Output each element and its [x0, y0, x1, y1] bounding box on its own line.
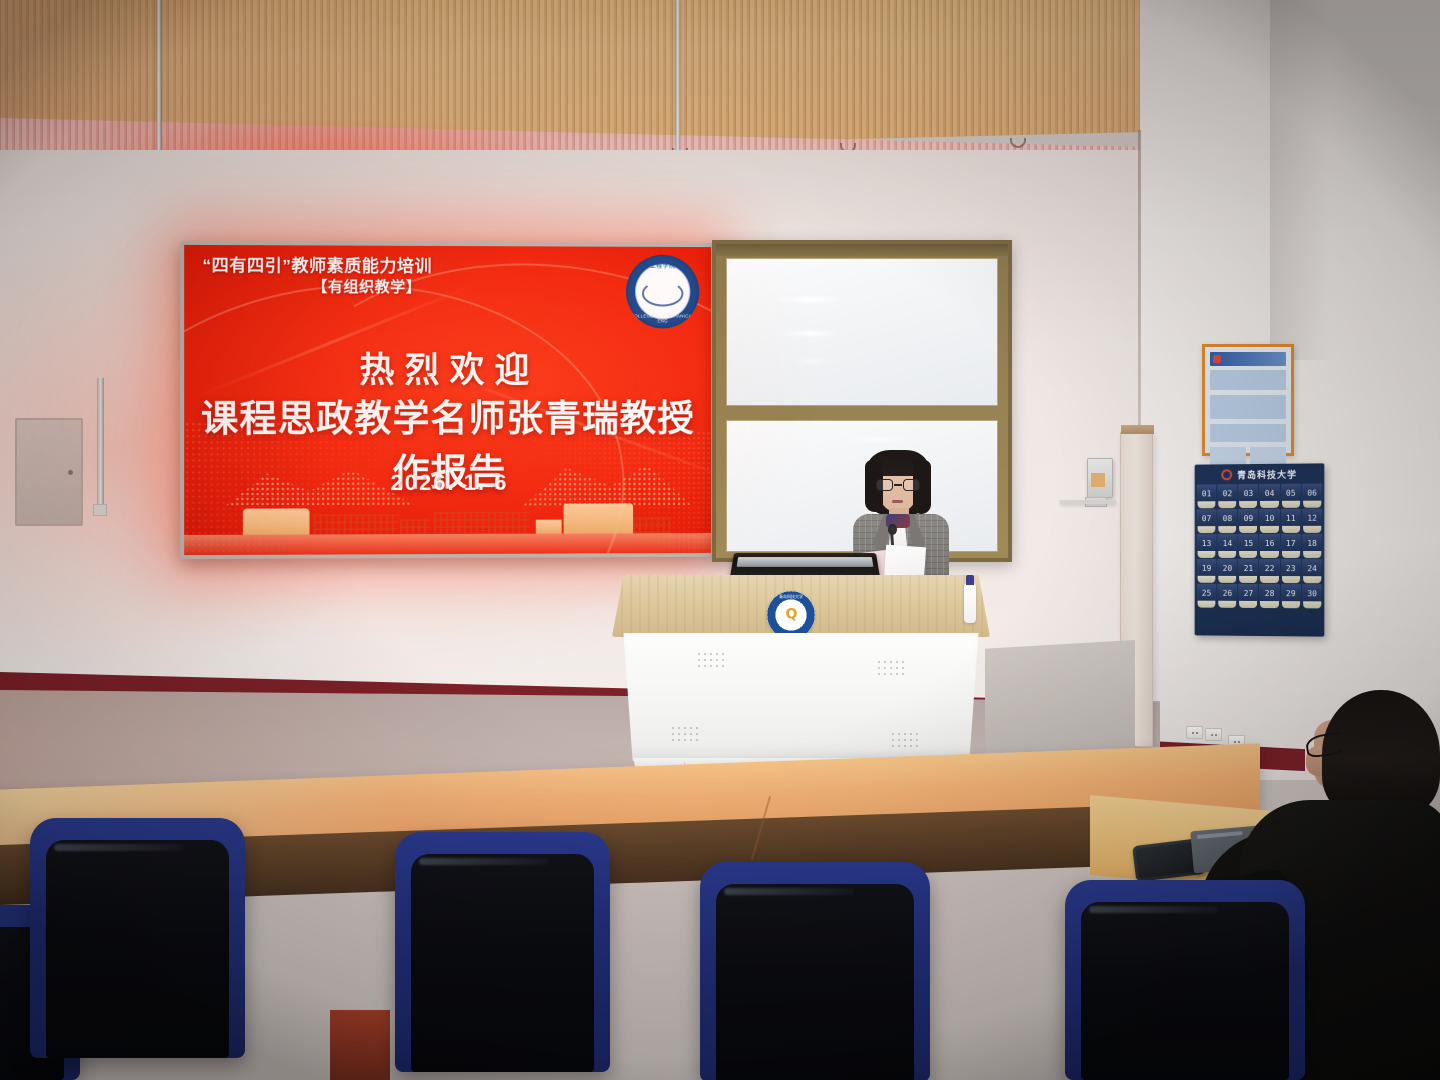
building-block [536, 520, 562, 534]
pocket-chart-cell[interactable]: 21 [1238, 559, 1258, 583]
poster-column [1250, 447, 1286, 465]
whiteboard-pane-top [726, 258, 998, 406]
seat-back-pad [411, 854, 594, 1072]
qust-emblem-icon: 青岛科技大学 Q [767, 591, 815, 639]
glasses-lens [903, 479, 920, 491]
wall-shadow [1270, 0, 1330, 360]
pocket-chart-cell[interactable]: 11 [1281, 509, 1301, 533]
water-bottle[interactable] [964, 583, 976, 623]
pocket-number: 12 [1302, 514, 1322, 523]
seat-cushion [330, 1010, 390, 1080]
panel-latch-icon [68, 470, 73, 475]
podium-vent [696, 651, 724, 669]
pocket-chart-cell[interactable]: 20 [1217, 559, 1237, 583]
podium-body [618, 633, 984, 761]
led-header-line1: “四有四引”教师素质能力培训 [202, 255, 503, 278]
framed-information-poster [1202, 344, 1294, 456]
pocket-chart-cell[interactable]: 10 [1259, 509, 1279, 533]
pocket-number: 29 [1281, 589, 1301, 598]
building-block [434, 512, 530, 534]
pocket-chart-cell[interactable]: 06 [1302, 484, 1322, 508]
bottle-cap-icon [966, 575, 974, 585]
pocket-number: 20 [1217, 564, 1237, 573]
power-outlet[interactable] [1205, 728, 1222, 741]
emblem-ring-text-en: COLLEGE OF MECHANICAL ENG [626, 313, 699, 323]
pocket-number: 13 [1197, 539, 1217, 548]
pocket-chart-cell[interactable]: 23 [1281, 559, 1301, 583]
poster-header-bar [1210, 352, 1286, 366]
emblem-ring-text: 工程学院 [626, 261, 699, 270]
attendee-hair [1322, 690, 1440, 816]
pocket-chart-cell[interactable]: 27 [1238, 584, 1258, 608]
pocket-chart-header: 青岛科技大学 [1195, 463, 1325, 484]
emblem-mark: Q [786, 607, 797, 623]
poster-column [1210, 447, 1246, 465]
pocket-chart-cell[interactable]: 13 [1197, 534, 1217, 558]
power-outlet[interactable] [1186, 726, 1203, 739]
led-header-line2: 【有组织教学】 [202, 277, 503, 298]
pocket-number: 30 [1302, 589, 1322, 598]
pocket-number: 01 [1197, 489, 1217, 498]
pocket-chart-cell[interactable]: 07 [1197, 509, 1217, 533]
lecture-hall-seat[interactable] [700, 862, 930, 1080]
qust-logo-icon [1221, 469, 1232, 480]
presenter-mouth [892, 500, 903, 503]
pocket-chart-cell[interactable]: 12 [1302, 509, 1322, 533]
pocket-chart-cell[interactable]: 14 [1217, 534, 1237, 558]
emblem-swoosh-icon [642, 281, 684, 307]
seat-back-pad [46, 840, 229, 1058]
led-header-block: “四有四引”教师素质能力培训 【有组织教学】 [202, 255, 503, 298]
wall-control-box[interactable] [1087, 458, 1113, 498]
pocket-chart-cell[interactable]: 08 [1217, 509, 1237, 533]
panel-top-clip [1121, 425, 1154, 434]
pocket-number: 14 [1217, 539, 1237, 548]
poster-text-block [1210, 424, 1286, 442]
seat-highlight [54, 844, 184, 851]
pocket-chart-cell[interactable]: 17 [1281, 534, 1301, 558]
pocket-chart-cell[interactable]: 26 [1217, 584, 1237, 608]
phone-pocket-chart[interactable]: 青岛科技大学 010203040506070809101112131415161… [1195, 463, 1325, 636]
glasses-icon [876, 479, 920, 492]
poster-text-block [1210, 370, 1286, 390]
podium-monitor[interactable] [730, 553, 880, 577]
pocket-number: 09 [1238, 514, 1258, 523]
pocket-number: 04 [1259, 489, 1279, 498]
college-emblem-icon: 工程学院 COLLEGE OF MECHANICAL ENG [626, 255, 699, 329]
conduit-clamp [93, 504, 107, 516]
glare-reflection [847, 437, 907, 442]
pocket-chart-cell[interactable]: 04 [1259, 484, 1279, 508]
building-block [400, 519, 430, 534]
pocket-number: 27 [1238, 589, 1258, 598]
pocket-chart-cell[interactable]: 18 [1302, 534, 1322, 558]
wall-conduit [97, 378, 104, 506]
pocket-chart-cell[interactable]: 03 [1238, 484, 1258, 508]
lecture-hall-photo: “四有四引”教师素质能力培训 【有组织教学】 工程学院 COLLEGE OF M… [0, 0, 1440, 1080]
pocket-chart-cell[interactable]: 16 [1259, 534, 1279, 558]
seat-back-pad [716, 884, 914, 1080]
pocket-number: 15 [1238, 539, 1258, 548]
lecture-hall-seat[interactable] [1065, 880, 1305, 1080]
campus-skyline-illustration [184, 481, 711, 535]
pocket-number: 28 [1259, 589, 1279, 598]
led-welcome-text: 热烈欢迎 [184, 342, 711, 393]
pocket-number: 26 [1217, 589, 1237, 598]
glare-reflection [795, 359, 829, 364]
glare-reflection [779, 331, 841, 336]
pocket-number: 08 [1217, 514, 1237, 523]
lecture-hall-seat[interactable] [395, 832, 610, 1072]
pocket-chart-cell[interactable]: 09 [1238, 509, 1258, 533]
building-gate [243, 508, 310, 534]
glare-reflection [771, 297, 849, 302]
seat-highlight [1089, 906, 1219, 913]
pocket-chart-cell[interactable]: 24 [1302, 559, 1322, 583]
glasses-lens [876, 479, 893, 491]
pocket-number: 19 [1197, 564, 1217, 573]
pocket-number: 18 [1302, 539, 1322, 548]
building-block [633, 517, 671, 533]
pocket-number: 07 [1197, 514, 1217, 523]
pocket-number: 22 [1259, 564, 1279, 573]
emblem-ring-text: 青岛科技大学 [767, 594, 815, 600]
pocket-number: 21 [1238, 564, 1258, 573]
pocket-number: 17 [1281, 539, 1301, 548]
led-bottom-glow [184, 533, 711, 555]
pocket-chart-cell[interactable]: 30 [1302, 584, 1322, 608]
pocket-number: 10 [1259, 514, 1279, 523]
pocket-number: 03 [1238, 489, 1258, 498]
pocket-number: 06 [1302, 489, 1322, 498]
pocket-number: 24 [1302, 564, 1322, 573]
building-block [314, 514, 398, 534]
podium-vent [670, 725, 698, 743]
led-welcome-screen: “四有四引”教师素质能力培训 【有组织教学】 工程学院 COLLEGE OF M… [180, 241, 715, 559]
seat-back-pad [1081, 902, 1289, 1080]
pocket-chart-cell[interactable]: 22 [1259, 559, 1279, 583]
pocket-chart-title: 青岛科技大学 [1237, 467, 1297, 481]
poster-text-block [1210, 395, 1286, 419]
pocket-number: 16 [1259, 539, 1279, 548]
pocket-chart-cell[interactable]: 19 [1197, 559, 1217, 583]
building-main [564, 503, 633, 533]
seat-highlight [419, 858, 549, 865]
lecture-hall-seat[interactable] [30, 818, 245, 1058]
pocket-chart-cell[interactable]: 02 [1217, 484, 1237, 508]
pocket-chart-cell[interactable]: 25 [1197, 584, 1217, 608]
podium-vent [876, 659, 904, 677]
pocket-chart-grid: 0102030405060708091011121314151617181920… [1195, 483, 1325, 608]
pocket-chart-cell[interactable]: 29 [1281, 584, 1301, 608]
podium-vent [890, 731, 918, 749]
seat-highlight [724, 888, 854, 895]
pocket-number: 23 [1281, 564, 1301, 573]
notebook-band [1197, 831, 1243, 839]
glasses-bridge [894, 484, 902, 486]
pocket-number: 05 [1281, 489, 1301, 498]
wall-shelf [1060, 500, 1116, 504]
whiteboard-top-rail [716, 244, 1008, 256]
pocket-chart-cell[interactable]: 15 [1238, 534, 1258, 558]
pocket-number: 25 [1197, 589, 1217, 598]
pocket-chart-cell[interactable]: 05 [1281, 484, 1301, 508]
control-box-label [1091, 473, 1105, 487]
pocket-chart-cell[interactable]: 01 [1197, 484, 1217, 508]
pocket-chart-cell[interactable]: 28 [1259, 584, 1279, 608]
poster-columns [1210, 447, 1286, 465]
pocket-number: 11 [1281, 514, 1301, 523]
monitor-screen [737, 557, 874, 567]
pocket-number: 02 [1217, 489, 1237, 498]
